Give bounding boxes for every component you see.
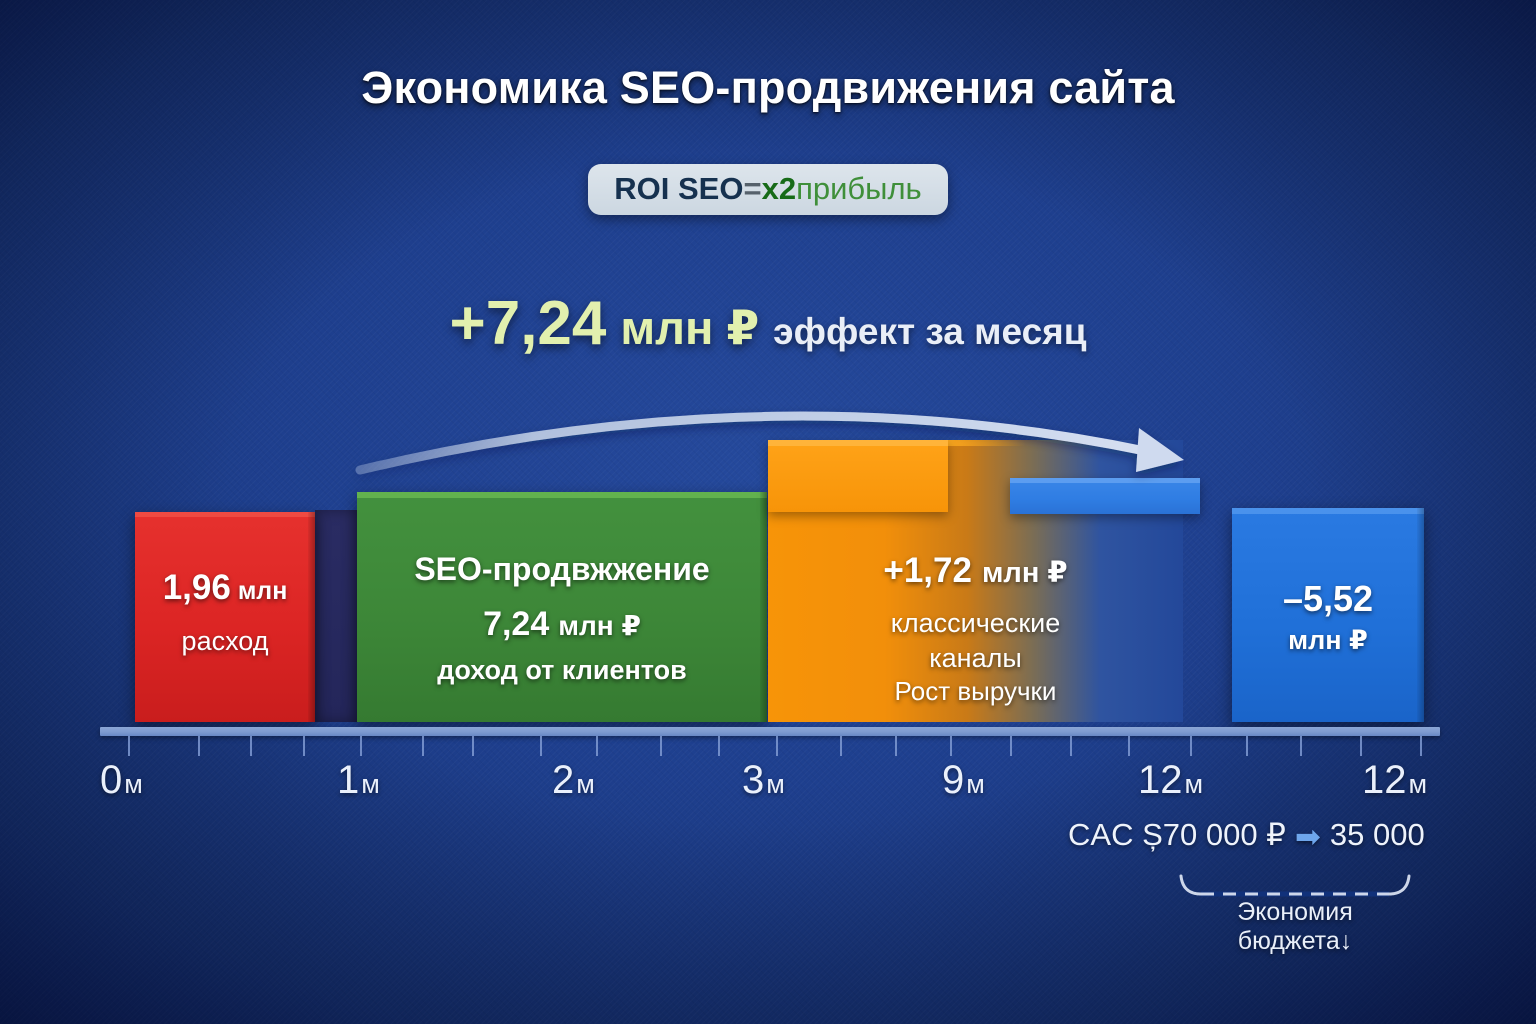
savings-brace — [1175, 872, 1415, 904]
growth-arrow-icon — [0, 0, 1536, 1024]
infographic-canvas: Экономика SEO-продвижения сайта ROI SEO=… — [0, 0, 1536, 1024]
